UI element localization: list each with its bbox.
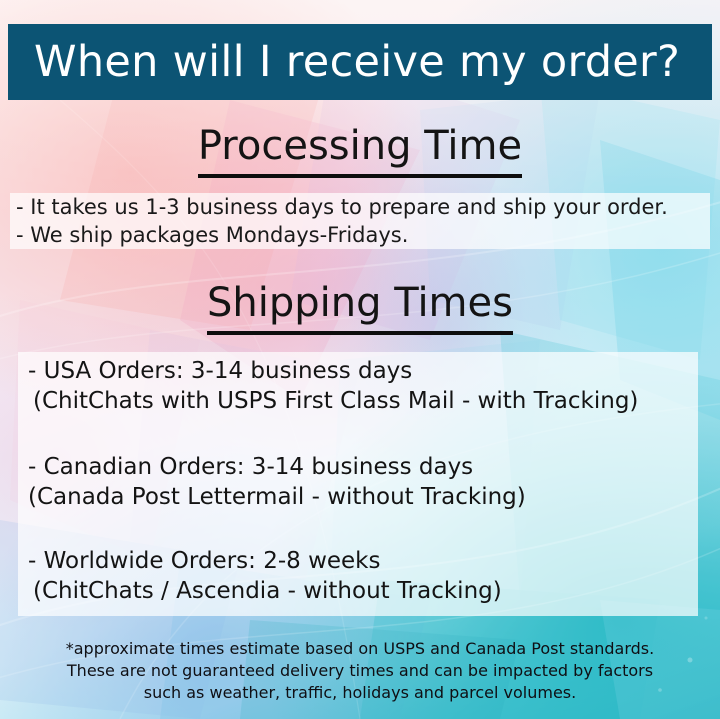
footer-line-2: These are not guaranteed delivery times …	[0, 660, 720, 682]
shipping-entry-worldwide-sub: (ChitChats / Ascendia - without Tracking…	[28, 576, 708, 606]
processing-time-heading-text: Processing Time	[198, 123, 522, 178]
page-title: When will I receive my order?	[34, 41, 680, 84]
shipping-entry-usa: - USA Orders: 3-14 business days (ChitCh…	[28, 356, 708, 416]
shipping-entry-canada-sub: (Canada Post Lettermail - without Tracki…	[28, 482, 708, 512]
section-heading-shipping-times: Shipping Times	[0, 283, 720, 323]
header-bar: When will I receive my order?	[8, 24, 712, 100]
footer-disclaimer: *approximate times estimate based on USP…	[0, 638, 720, 704]
footer-line-1: *approximate times estimate based on USP…	[0, 638, 720, 660]
shipping-entry-canada: - Canadian Orders: 3-14 business days (C…	[28, 452, 708, 512]
processing-line-1: - It takes us 1-3 business days to prepa…	[16, 193, 716, 221]
shipping-entry-worldwide: - Worldwide Orders: 2-8 weeks (ChitChats…	[28, 546, 708, 606]
footer-line-3: such as weather, traffic, holidays and p…	[0, 682, 720, 704]
processing-time-lines: - It takes us 1-3 business days to prepa…	[16, 193, 716, 249]
section-heading-processing-time: Processing Time	[0, 126, 720, 166]
shipping-times-heading-text: Shipping Times	[207, 280, 513, 335]
processing-line-2: - We ship packages Mondays-Fridays.	[16, 221, 716, 249]
shipping-entry-canada-main: - Canadian Orders: 3-14 business days	[28, 452, 708, 482]
shipping-info-poster: When will I receive my order? Processing…	[0, 0, 720, 719]
shipping-entry-worldwide-main: - Worldwide Orders: 2-8 weeks	[28, 546, 708, 576]
shipping-entry-usa-main: - USA Orders: 3-14 business days	[28, 356, 708, 386]
shipping-entry-usa-sub: (ChitChats with USPS First Class Mail - …	[28, 386, 708, 416]
